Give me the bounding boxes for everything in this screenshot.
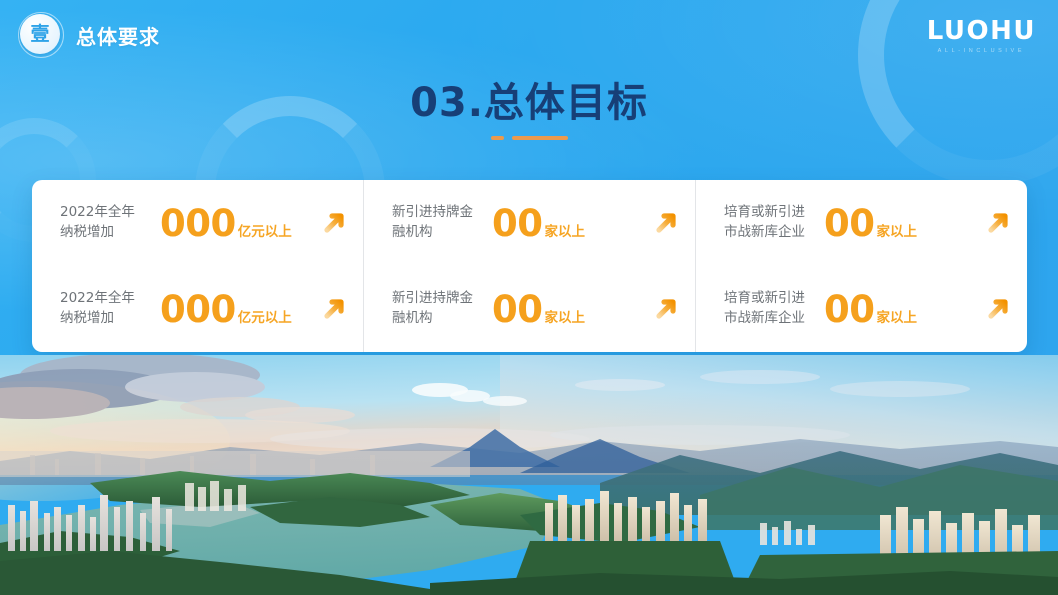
stat-number: 00 [492, 205, 543, 242]
title-underline-dash-short [491, 136, 504, 140]
stat-unit: 家以上 [877, 306, 918, 326]
arrow-up-right-icon [653, 208, 683, 238]
brand-logo: LUOHU ALL-INCLUSIVE [927, 18, 1036, 54]
brand-logo-name: LUOHU [927, 18, 1036, 44]
stat-label: 培育或新引进市战新库企业 [724, 203, 810, 242]
stat-unit: 亿元以上 [238, 306, 292, 326]
header: 壹 总体要求 [18, 12, 160, 58]
stat-value: 000 亿元以上 [160, 291, 292, 328]
stat-cell[interactable]: 2022年全年纳税增加 000 亿元以上 [32, 180, 363, 266]
stat-unit: 家以上 [877, 220, 918, 240]
stat-label: 新引进持牌金融机构 [392, 289, 478, 328]
title-underline [0, 136, 1058, 140]
stat-number: 000 [160, 205, 236, 242]
badge-number-label: 壹 [30, 25, 49, 44]
stat-number: 00 [824, 291, 875, 328]
brand-logo-tagline: ALL-INCLUSIVE [927, 48, 1036, 54]
stat-unit: 亿元以上 [238, 220, 292, 240]
stat-cell[interactable]: 2022年全年纳税增加 000 亿元以上 [32, 266, 363, 352]
arrow-up-right-icon [985, 208, 1015, 238]
city-aerial-photo [0, 355, 1058, 595]
arrow-up-right-icon [653, 294, 683, 324]
stat-cell[interactable]: 培育或新引进市战新库企业 00 家以上 [695, 266, 1027, 352]
page-title: 03.总体目标 [0, 80, 1058, 126]
stat-cell[interactable]: 培育或新引进市战新库企业 00 家以上 [695, 180, 1027, 266]
stat-value: 00 家以上 [824, 291, 917, 328]
stat-number: 00 [492, 291, 543, 328]
stat-cell[interactable]: 新引进持牌金融机构 00 家以上 [363, 266, 695, 352]
stat-cell[interactable]: 新引进持牌金融机构 00 家以上 [363, 180, 695, 266]
stat-value: 00 家以上 [824, 205, 917, 242]
stat-number: 00 [824, 205, 875, 242]
stat-value: 00 家以上 [492, 291, 585, 328]
stat-label: 新引进持牌金融机构 [392, 203, 478, 242]
stat-unit: 家以上 [545, 220, 586, 240]
stats-panel: 2022年全年纳税增加 000 亿元以上 新引进持牌金融机构 00 家以上 [32, 180, 1027, 352]
stat-number: 000 [160, 291, 236, 328]
stat-value: 000 亿元以上 [160, 205, 292, 242]
stat-label: 2022年全年纳税增加 [60, 203, 146, 242]
stat-label: 培育或新引进市战新库企业 [724, 289, 810, 328]
arrow-up-right-icon [321, 294, 351, 324]
stats-row: 2022年全年纳税增加 000 亿元以上 新引进持牌金融机构 00 家以上 [32, 180, 1027, 266]
arrow-up-right-icon [321, 208, 351, 238]
badge-circle: 壹 [20, 14, 60, 54]
stat-value: 00 家以上 [492, 205, 585, 242]
arrow-up-right-icon [985, 294, 1015, 324]
section-badge: 壹 [18, 12, 64, 58]
stat-label: 2022年全年纳税增加 [60, 289, 146, 328]
slide: 壹 总体要求 LUOHU ALL-INCLUSIVE 03.总体目标 2022年… [0, 0, 1058, 595]
page-title-block: 03.总体目标 [0, 80, 1058, 140]
title-underline-dash-long [512, 136, 568, 140]
header-title: 总体要求 [76, 21, 160, 50]
stat-unit: 家以上 [545, 306, 586, 326]
stats-row: 2022年全年纳税增加 000 亿元以上 新引进持牌金融机构 00 家以上 [32, 266, 1027, 352]
